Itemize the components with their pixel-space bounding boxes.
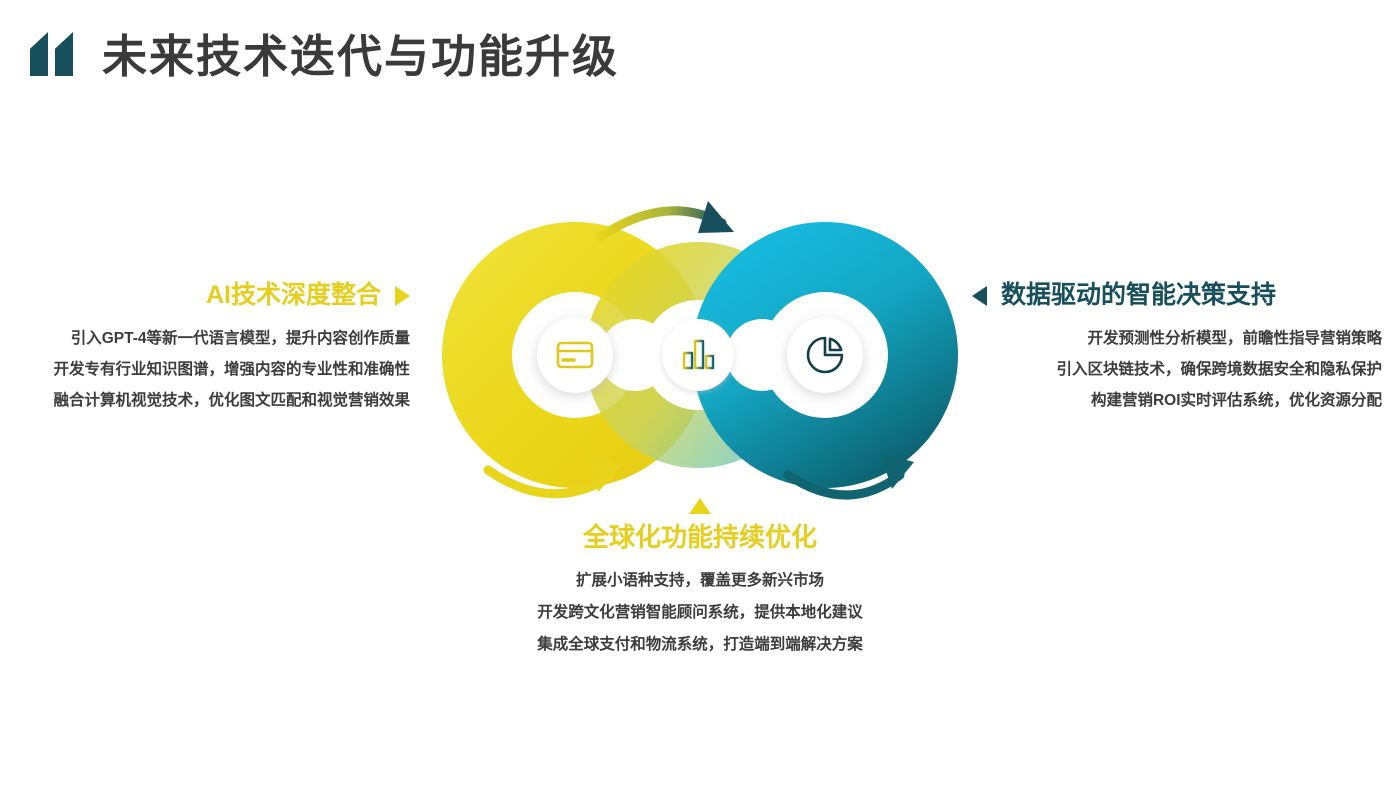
block-right-line-1: 开发预测性分析模型，前瞻性指导营销策略 — [972, 323, 1382, 354]
block-left-heading-text: AI技术深度整合 — [206, 283, 381, 308]
block-right-heading-text: 数据驱动的智能决策支持 — [1001, 283, 1276, 308]
block-left-heading: AI技术深度整合 — [0, 283, 410, 308]
triangle-up-icon — [689, 498, 711, 514]
block-left-line-3: 融合计算机视觉技术，优化图文匹配和视觉营销效果 — [0, 385, 410, 416]
block-bottom-body: 扩展小语种支持，覆盖更多新兴市场 开发跨文化营销智能顾问系统，提供本地化建议 集… — [450, 565, 950, 660]
block-bottom-heading-text: 全球化功能持续优化 — [583, 524, 817, 550]
triangle-right-icon — [395, 286, 410, 306]
block-left-body: 引入GPT-4等新一代语言模型，提升内容创作质量 开发专有行业知识图谱，增强内容… — [0, 323, 410, 416]
block-bottom-line-1: 扩展小语种支持，覆盖更多新兴市场 — [450, 565, 950, 597]
quote-mark-icon — [28, 26, 80, 80]
block-right: 数据驱动的智能决策支持 开发预测性分析模型，前瞻性指导营销策略 引入区块链技术，… — [972, 283, 1382, 416]
block-bottom-heading: 全球化功能持续优化 — [450, 524, 950, 550]
page-title: 未来技术迭代与功能升级 — [102, 34, 619, 79]
block-left-line-1: 引入GPT-4等新一代语言模型，提升内容创作质量 — [0, 323, 410, 354]
block-left: AI技术深度整合 引入GPT-4等新一代语言模型，提升内容创作质量 开发专有行业… — [0, 283, 410, 416]
page-header: 未来技术迭代与功能升级 — [28, 26, 619, 80]
block-right-body: 开发预测性分析模型，前瞻性指导营销策略 引入区块链技术，确保跨境数据安全和隐私保… — [972, 323, 1382, 416]
block-bottom: 全球化功能持续优化 扩展小语种支持，覆盖更多新兴市场 开发跨文化营销智能顾问系统… — [450, 498, 950, 660]
block-left-line-2: 开发专有行业知识图谱，增强内容的专业性和准确性 — [0, 354, 410, 385]
block-bottom-line-3: 集成全球支付和物流系统，打造端到端解决方案 — [450, 629, 950, 661]
block-right-heading: 数据驱动的智能决策支持 — [972, 283, 1382, 308]
block-right-line-3: 构建营销ROI实时评估系统，优化资源分配 — [972, 385, 1382, 416]
block-bottom-line-2: 开发跨文化营销智能顾问系统，提供本地化建议 — [450, 597, 950, 629]
triangle-left-icon — [972, 286, 987, 306]
infographic-diagram — [430, 185, 975, 525]
block-right-line-2: 引入区块链技术，确保跨境数据安全和隐私保护 — [972, 354, 1382, 385]
